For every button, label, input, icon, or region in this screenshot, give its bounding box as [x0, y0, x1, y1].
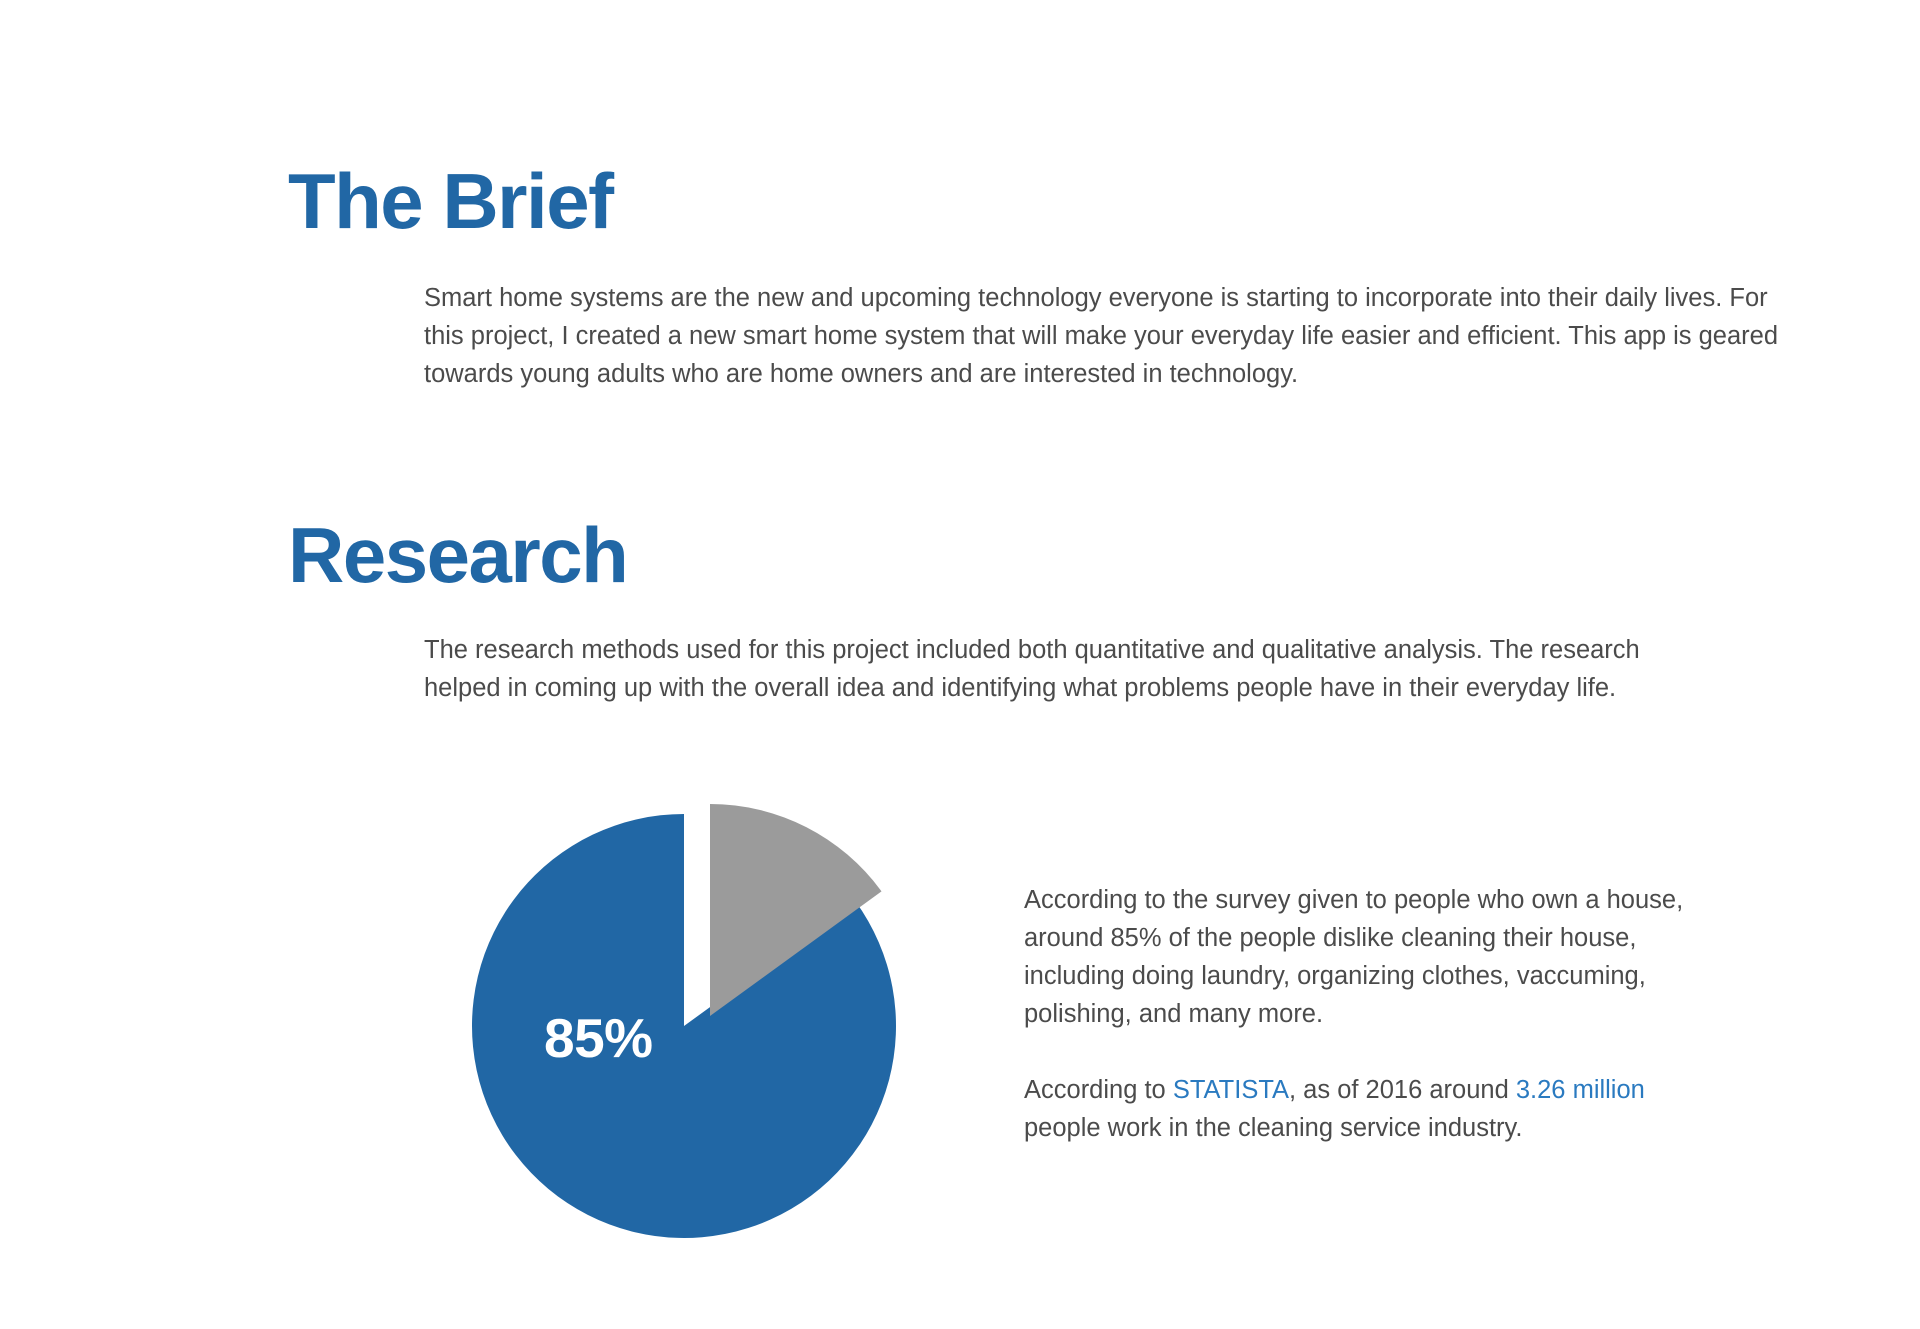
statista-note-suffix: people work in the cleaning service indu… [1024, 1114, 1522, 1142]
statista-note-prefix: According to [1024, 1076, 1173, 1104]
pie-chart-svg [452, 796, 982, 1266]
chart-notes: According to the survey given to people … [1024, 881, 1714, 1147]
brief-paragraph: Smart home systems are the new and upcom… [424, 279, 1809, 393]
statista-link[interactable]: STATISTA [1173, 1076, 1289, 1104]
case-study-page: The Brief Smart home systems are the new… [0, 0, 1920, 1329]
statista-note: According to STATISTA, as of 2016 around… [1024, 1071, 1714, 1147]
statista-note-middle: , as of 2016 around [1289, 1076, 1516, 1104]
pie-chart: 85% [452, 796, 982, 1266]
research-paragraph: The research methods used for this proje… [424, 631, 1684, 707]
page-title-the-brief: The Brief [288, 162, 613, 240]
page-title-research: Research [288, 516, 627, 594]
statista-figure: 3.26 million [1516, 1076, 1645, 1104]
survey-note: According to the survey given to people … [1024, 881, 1714, 1033]
